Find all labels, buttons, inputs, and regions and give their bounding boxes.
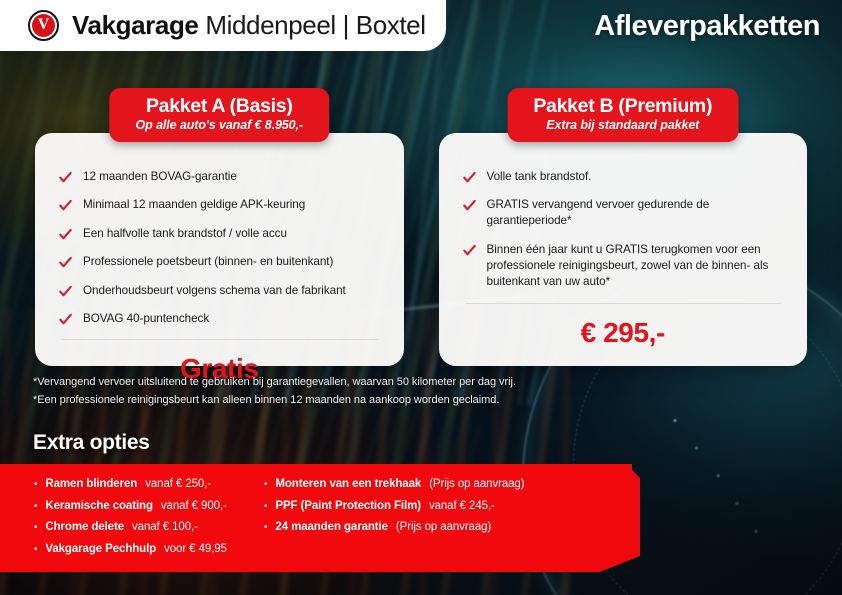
option-detail: vanaf € 900,- xyxy=(161,500,227,512)
option-name: Monteren van een trekhaak xyxy=(275,478,421,490)
extra-options-column-2: • Monteren van een trekhaak (Prijs op aa… xyxy=(264,478,604,572)
list-item: BOVAG 40-puntencheck xyxy=(59,311,380,327)
check-icon xyxy=(463,244,476,257)
list-item-label: Professionele poetsbeurt (binnen- en bui… xyxy=(83,254,333,270)
option-detail: vanaf € 100,- xyxy=(132,521,198,533)
check-icon xyxy=(59,171,72,184)
package-b-subtitle: Extra bij standaard pakket xyxy=(533,118,712,132)
list-item: • Keramische coating vanaf € 900,- xyxy=(34,500,264,512)
list-item: • Chrome delete vanaf € 100,- xyxy=(34,521,264,533)
list-item: • 24 maanden garantie (Prijs op aanvraag… xyxy=(264,521,604,533)
package-a-subtitle: Op alle auto's vanaf € 8.950,- xyxy=(136,118,303,132)
logo-inner-disc: V xyxy=(32,14,55,37)
vakgarage-v-badge-icon: V xyxy=(28,10,59,41)
option-detail: voor € 49,95 xyxy=(164,543,227,555)
page-title: Afleverpakketten xyxy=(594,10,820,43)
list-item: • Ramen blinderen vanaf € 250,- xyxy=(34,478,264,490)
bullet-icon: • xyxy=(264,523,267,533)
bullet-icon: • xyxy=(34,502,37,512)
list-item: • PPF (Paint Protection Film) vanaf € 24… xyxy=(264,500,604,512)
option-name: Ramen blinderen xyxy=(45,478,137,490)
package-b-price: € 295,- xyxy=(463,304,784,366)
list-item-label: Minimaal 12 maanden geldige APK-keuring xyxy=(83,197,305,213)
option-name: Vakgarage Pechhulp xyxy=(45,543,156,555)
option-detail: vanaf € 250,- xyxy=(145,478,211,490)
option-detail: vanaf € 245,- xyxy=(429,500,495,512)
list-item: • Monteren van een trekhaak (Prijs op aa… xyxy=(264,478,604,490)
extra-options-column-1: • Ramen blinderen vanaf € 250,- • Kerami… xyxy=(34,478,264,572)
brand-name: Vakgarage Middenpeel | Boxtel xyxy=(72,10,426,41)
check-icon xyxy=(59,256,72,269)
package-a-feature-list: 12 maanden BOVAG-garantie Minimaal 12 ma… xyxy=(59,169,380,339)
list-item: GRATIS vervangend vervoer gedurende de g… xyxy=(463,197,784,229)
brand-name-location: Middenpeel | Boxtel xyxy=(205,10,425,40)
list-item-label: Een halfvolle tank brandstof / volle acc… xyxy=(83,226,287,242)
list-item: Binnen één jaar kunt u GRATIS terugkomen… xyxy=(463,242,784,290)
list-item-label: BOVAG 40-puntencheck xyxy=(83,311,209,327)
package-a-title: Pakket A (Basis) xyxy=(136,96,303,117)
check-icon xyxy=(59,228,72,241)
bullet-icon: • xyxy=(264,502,267,512)
poster-canvas: V Vakgarage Middenpeel | Boxtel Afleverp… xyxy=(0,0,842,595)
bullet-icon: • xyxy=(264,480,267,490)
list-item-label: Volle tank brandstof. xyxy=(487,169,592,185)
footnotes: *Vervangend vervoer uitsluitend te gebru… xyxy=(33,374,733,410)
package-card-b: Pakket B (Premium) Extra bij standaard p… xyxy=(439,133,808,366)
package-b-title: Pakket B (Premium) xyxy=(533,96,712,117)
package-b-footer: € 295,- xyxy=(463,303,784,366)
package-b-badge: Pakket B (Premium) Extra bij standaard p… xyxy=(507,88,738,142)
check-icon xyxy=(463,199,476,212)
extra-options-title: Extra opties xyxy=(33,431,150,455)
list-item: Professionele poetsbeurt (binnen- en bui… xyxy=(59,254,380,270)
header-bar: V Vakgarage Middenpeel | Boxtel xyxy=(0,0,446,51)
package-cards: Pakket A (Basis) Op alle auto's vanaf € … xyxy=(35,133,807,366)
list-item-label: Binnen één jaar kunt u GRATIS terugkomen… xyxy=(487,242,784,290)
option-name: Keramische coating xyxy=(45,500,153,512)
logo-letter-v: V xyxy=(38,17,50,33)
option-name: 24 maanden garantie xyxy=(275,521,388,533)
package-b-feature-list: Volle tank brandstof. GRATIS vervangend … xyxy=(463,169,784,302)
bullet-icon: • xyxy=(34,545,37,555)
list-item: Volle tank brandstof. xyxy=(463,169,784,185)
bullet-icon: • xyxy=(34,523,37,533)
list-item: Een halfvolle tank brandstof / volle acc… xyxy=(59,226,380,242)
list-item: Onderhoudsbeurt volgens schema van de fa… xyxy=(59,283,380,299)
footnote-2: *Een professionele reinigingsbeurt kan a… xyxy=(33,392,733,410)
package-card-a: Pakket A (Basis) Op alle auto's vanaf € … xyxy=(35,133,404,366)
extra-options-lists: • Ramen blinderen vanaf € 250,- • Kerami… xyxy=(0,464,660,572)
list-item: • Vakgarage Pechhulp voor € 49,95 xyxy=(34,543,264,555)
list-item-label: GRATIS vervangend vervoer gedurende de g… xyxy=(487,197,784,229)
brand-name-strong: Vakgarage xyxy=(72,10,199,40)
list-item-label: 12 maanden BOVAG-garantie xyxy=(83,169,237,185)
list-item: 12 maanden BOVAG-garantie xyxy=(59,169,380,185)
list-item-label: Onderhoudsbeurt volgens schema van de fa… xyxy=(83,283,346,299)
bullet-icon: • xyxy=(34,480,37,490)
footnote-1: *Vervangend vervoer uitsluitend te gebru… xyxy=(33,374,733,392)
check-icon xyxy=(59,313,72,326)
check-icon xyxy=(59,285,72,298)
list-item: Minimaal 12 maanden geldige APK-keuring xyxy=(59,197,380,213)
check-icon xyxy=(463,171,476,184)
package-a-badge: Pakket A (Basis) Op alle auto's vanaf € … xyxy=(110,88,329,142)
option-detail: (Prijs op aanvraag) xyxy=(429,478,524,490)
option-name: PPF (Paint Protection Film) xyxy=(275,500,421,512)
option-name: Chrome delete xyxy=(45,521,124,533)
option-detail: (Prijs op aanvraag) xyxy=(396,521,491,533)
check-icon xyxy=(59,199,72,212)
